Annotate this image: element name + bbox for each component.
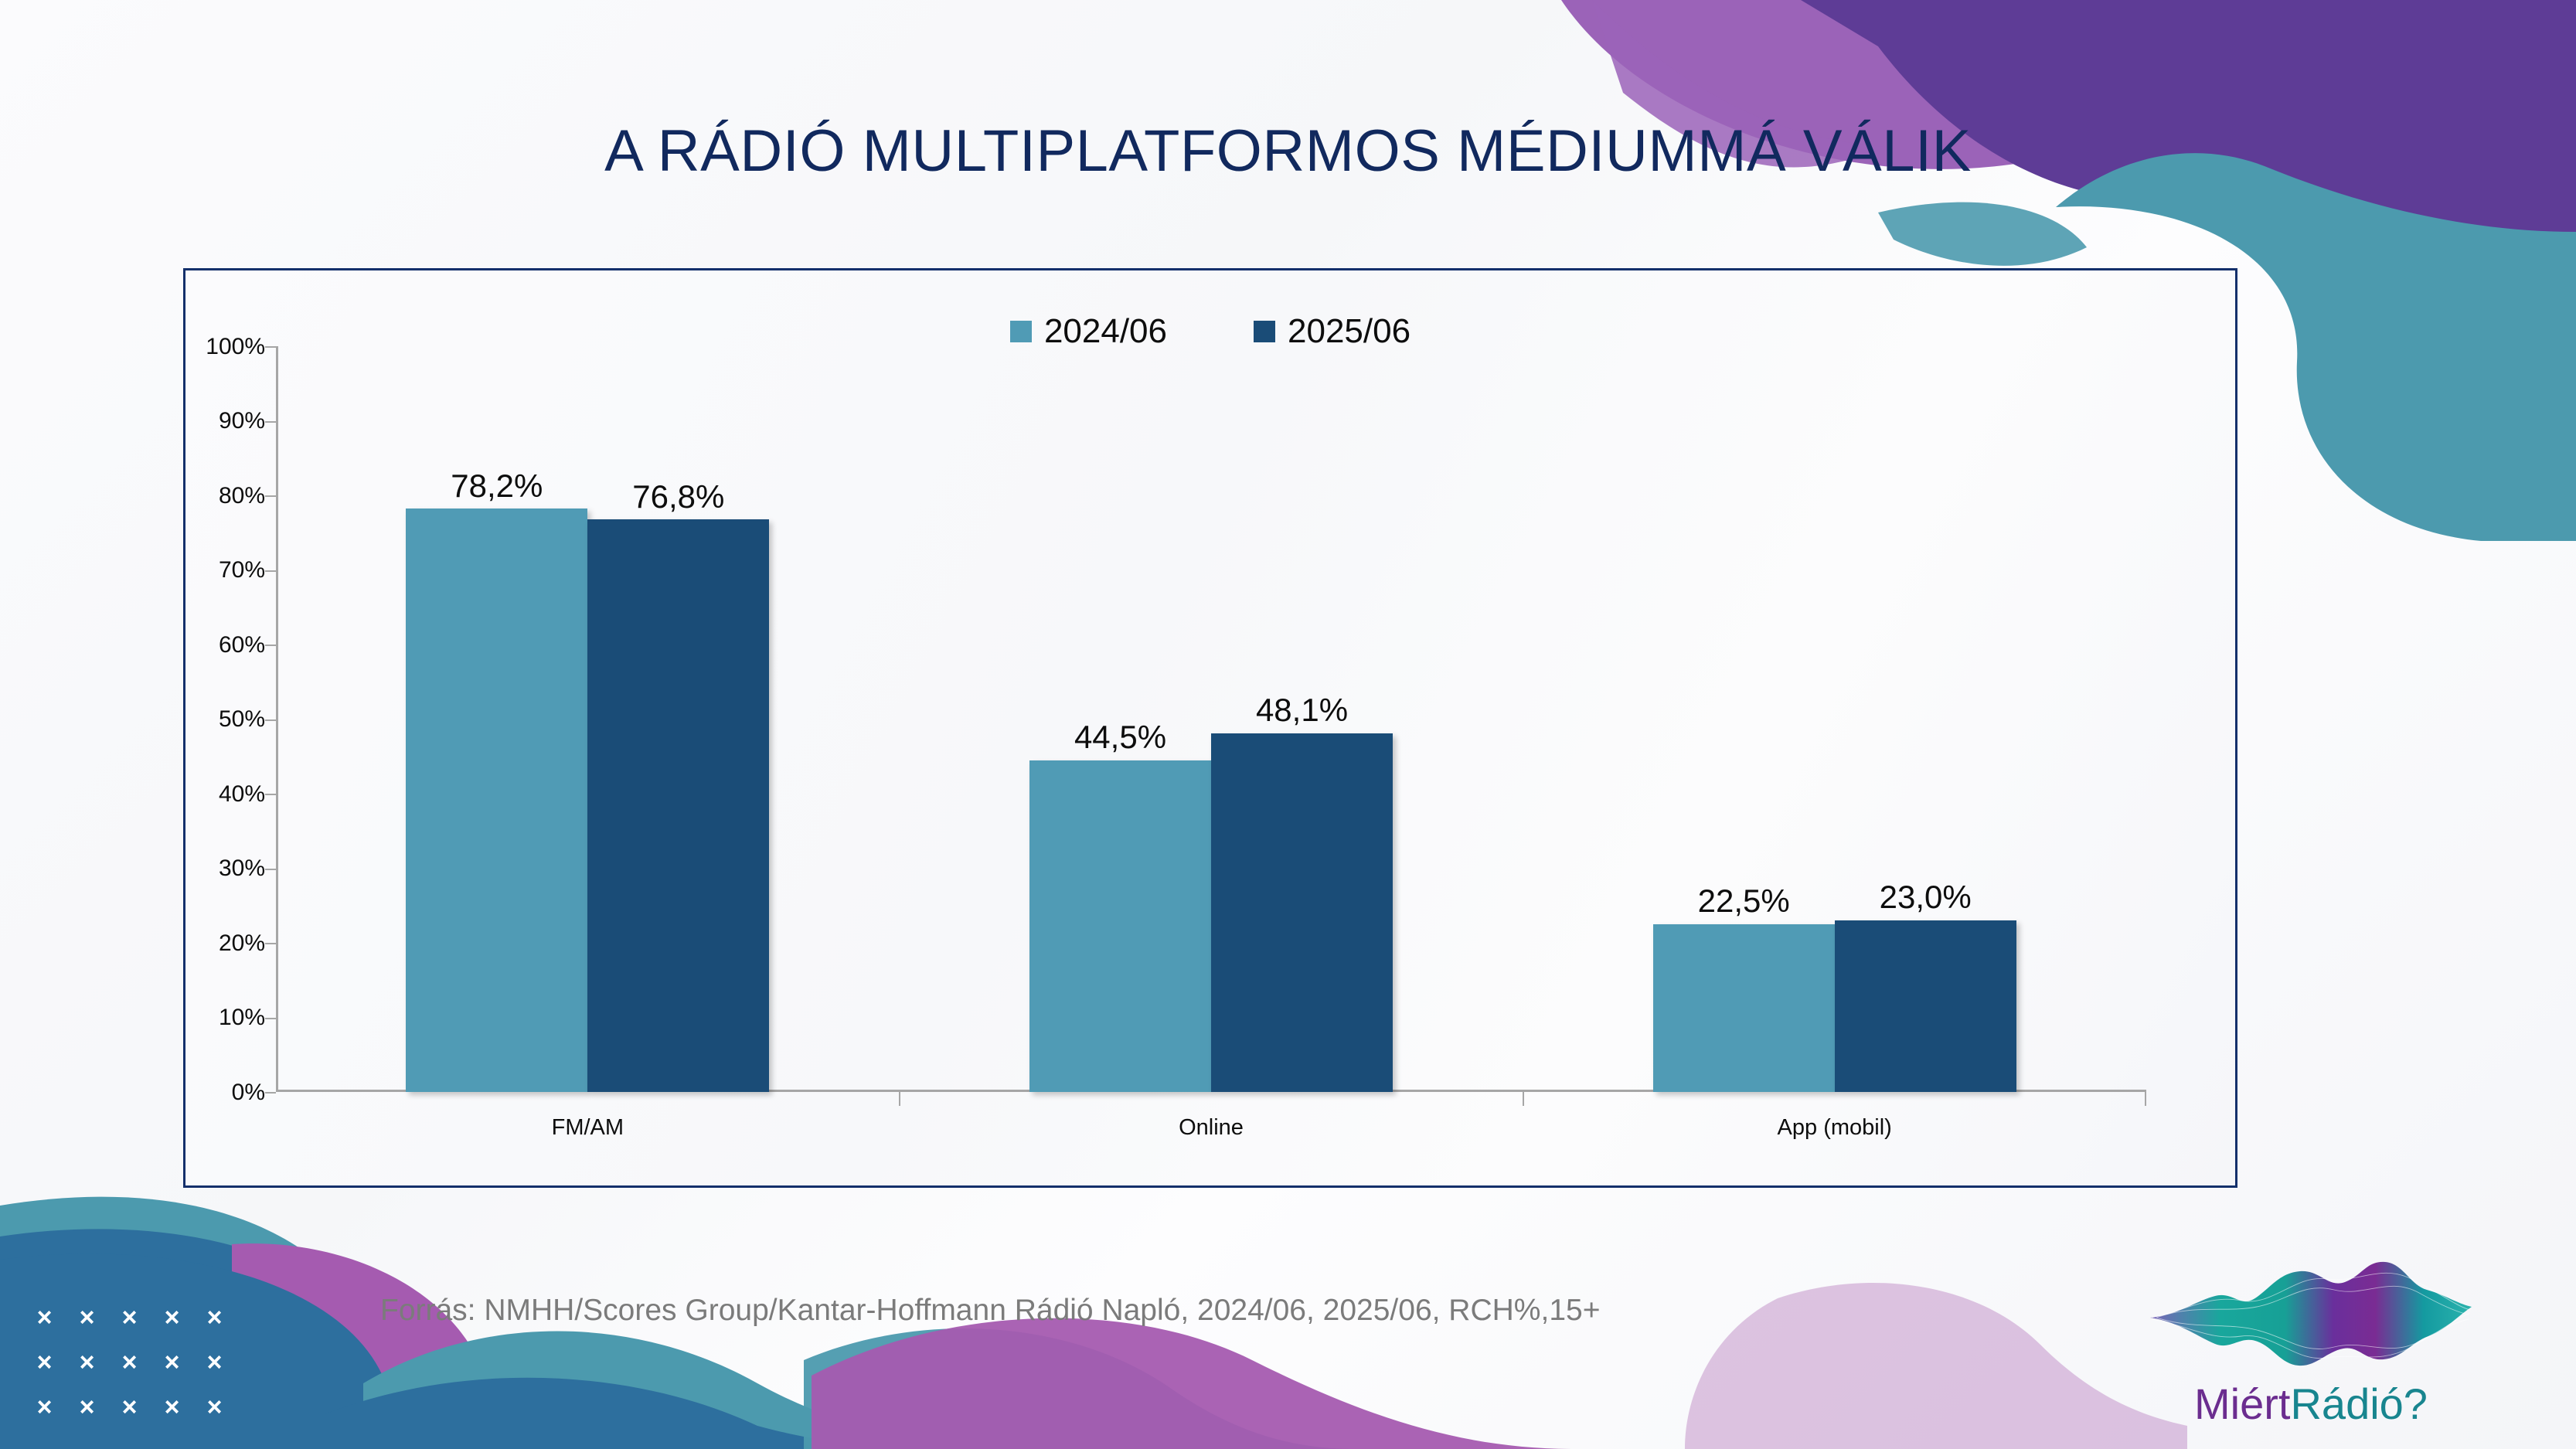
- dot-grid-x: ×: [151, 1394, 193, 1439]
- blob-purple-bottom-right: [1685, 1283, 2187, 1449]
- bar-group: 78,2% 76,8% FM/AM: [276, 346, 900, 1092]
- y-axis-tick-label: 70%: [219, 559, 265, 582]
- dot-grid-x: ×: [66, 1349, 108, 1394]
- legend-label: 2025/06: [1288, 314, 1411, 349]
- blob-steelblue-bottom-left-front: [0, 1253, 541, 1449]
- x-axis-tick: [2145, 1092, 2146, 1106]
- dot-grid-x: ×: [108, 1304, 151, 1349]
- x-axis-tick: [1523, 1092, 1524, 1106]
- bar-slot: 76,8%: [587, 346, 769, 1092]
- blob-teal-bottom-left-top: [0, 1197, 325, 1301]
- bar-value-label: 23,0%: [1880, 880, 1972, 914]
- bar-groups: 78,2% 76,8% FM/AM 44,5%: [276, 346, 2146, 1092]
- source-note: Forrás: NMHH/Scores Group/Kantar-Hoffman…: [380, 1292, 1600, 1329]
- blob-teal-top-accent: [1878, 202, 2087, 266]
- dot-grid-x: ×: [151, 1349, 193, 1394]
- table-row[interactable]: [1653, 924, 1835, 1092]
- x-axis-category-label: App (mobil): [1778, 1115, 1892, 1140]
- bar-slot: 23,0%: [1835, 346, 2016, 1092]
- plot-area: 100% 90% 80% 70% 60% 50% 40% 30%: [276, 346, 2146, 1092]
- dot-grid-x: ×: [66, 1304, 108, 1349]
- legend-swatch-icon: [1254, 321, 1275, 342]
- legend-item-2024[interactable]: 2024/06: [1010, 314, 1167, 349]
- blob-teal-bottom-center: [363, 1332, 1082, 1449]
- y-axis-tick-label: 0%: [232, 1081, 265, 1104]
- x-axis-category-label: FM/AM: [552, 1115, 624, 1140]
- bar-value-label: 78,2%: [451, 469, 543, 503]
- legend-label: 2024/06: [1044, 314, 1167, 349]
- bar-value-label: 44,5%: [1074, 720, 1166, 754]
- dot-grid-x: ×: [108, 1394, 151, 1439]
- legend-item-2025[interactable]: 2025/06: [1254, 314, 1411, 349]
- bar-slot: 78,2%: [406, 346, 587, 1092]
- table-row[interactable]: [587, 519, 769, 1092]
- logo-wordmark: MiértRádió?: [2149, 1381, 2473, 1427]
- bar-value-label: 22,5%: [1698, 884, 1790, 918]
- table-row[interactable]: [1211, 733, 1393, 1092]
- dot-grid-decoration: × × × × × × × × × × × × × × ×: [23, 1304, 236, 1439]
- y-axis-tick-label: 80%: [219, 485, 265, 508]
- dot-grid-x: ×: [193, 1349, 236, 1394]
- logo-word-radio: Rádió?: [2290, 1379, 2427, 1428]
- y-axis-tick-label: 30%: [219, 857, 265, 880]
- y-axis-tick-label: 50%: [219, 708, 265, 731]
- dot-grid-x: ×: [193, 1394, 236, 1439]
- dot-grid-x: ×: [151, 1304, 193, 1349]
- bar-group: 44,5% 48,1% Online: [900, 346, 1523, 1092]
- bar-group: 22,5% 23,0% App (mobil): [1523, 346, 2146, 1092]
- bar-value-label: 76,8%: [632, 480, 724, 514]
- dot-grid-x: ×: [23, 1394, 66, 1439]
- dot-grid-x: ×: [23, 1304, 66, 1349]
- y-axis-tick-label: 60%: [219, 634, 265, 657]
- y-axis-tick: 0%: [276, 1092, 277, 1093]
- y-axis-tick-label: 10%: [219, 1006, 265, 1029]
- chart-container: 2024/06 2025/06 100% 90% 80% 70% 60%: [183, 268, 2237, 1188]
- soundwave-icon: [2149, 1256, 2473, 1379]
- blob-purple-bottom-left: [232, 1243, 587, 1449]
- brand-logo[interactable]: MiértRádió?: [2149, 1256, 2473, 1441]
- legend-swatch-icon: [1010, 321, 1032, 342]
- blob-steelblue-bottom-center: [325, 1378, 966, 1449]
- dot-grid-x: ×: [193, 1304, 236, 1349]
- table-row[interactable]: [406, 509, 587, 1092]
- x-axis-category-label: Online: [1179, 1115, 1244, 1140]
- bar-value-label: 48,1%: [1256, 693, 1348, 727]
- y-axis-tick-label: 100%: [206, 335, 265, 359]
- bar-pair: 22,5% 23,0%: [1653, 346, 2016, 1092]
- y-axis-tick-label: 90%: [219, 410, 265, 433]
- bar-slot: 48,1%: [1211, 346, 1393, 1092]
- x-axis-tick: [899, 1092, 900, 1106]
- bar-pair: 44,5% 48,1%: [1029, 346, 1393, 1092]
- chart-legend: 2024/06 2025/06: [185, 314, 2235, 349]
- bar-slot: 44,5%: [1029, 346, 1211, 1092]
- y-axis-tick-label: 40%: [219, 783, 265, 806]
- bar-slot: 22,5%: [1653, 346, 1835, 1092]
- dot-grid-x: ×: [108, 1349, 151, 1394]
- logo-word-miert: Miért: [2194, 1379, 2290, 1428]
- blob-teal-bottom-center-2: [804, 1328, 1360, 1449]
- dot-grid-x: ×: [23, 1349, 66, 1394]
- table-row[interactable]: [1029, 760, 1211, 1092]
- blob-purple-bottom-center: [812, 1318, 1577, 1449]
- bar-pair: 78,2% 76,8%: [406, 346, 769, 1092]
- y-axis-tick-label: 20%: [219, 932, 265, 955]
- table-row[interactable]: [1835, 920, 2016, 1092]
- dot-grid-x: ×: [66, 1394, 108, 1439]
- page-title: A RÁDIÓ MULTIPLATFORMOS MÉDIUMMÁ VÁLIK: [0, 117, 2576, 185]
- blob-steelblue-bottom-left: [0, 1229, 572, 1449]
